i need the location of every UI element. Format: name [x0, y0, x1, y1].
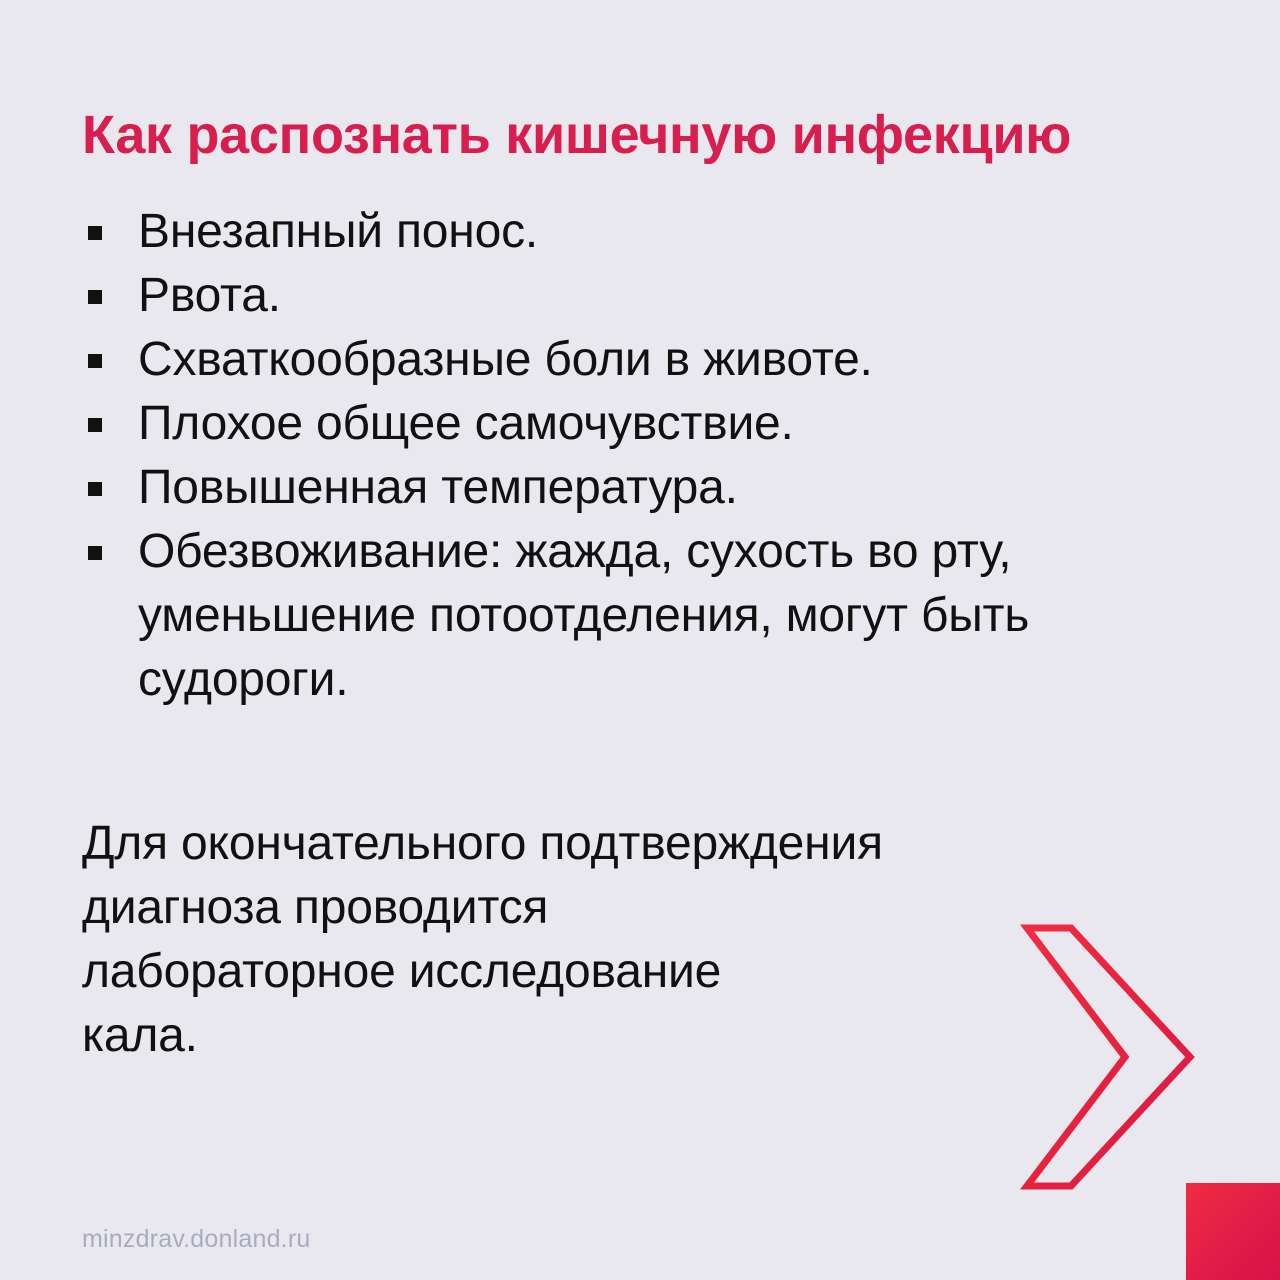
conclusion-line: диагноза проводится	[82, 876, 1172, 940]
list-item-label: Повышенная температура.	[138, 456, 1192, 520]
footer-url: minzdrav.donland.ru	[82, 1224, 310, 1254]
conclusion-line: Для окончательного подтверждения	[82, 812, 1172, 876]
square-bullet-icon	[88, 482, 102, 496]
list-item-label: Схваткообразные боли в животе.	[138, 328, 1192, 392]
list-item-label: Внезапный понос.	[138, 200, 1192, 264]
list-item: Повышенная температура.	[82, 456, 1192, 520]
square-bullet-icon	[88, 354, 102, 368]
square-bullet-icon	[88, 418, 102, 432]
list-item-label: Плохое общее самочувствие.	[138, 392, 1192, 456]
square-bullet-icon	[88, 290, 102, 304]
list-item: Рвота.	[82, 264, 1192, 328]
list-item: Плохое общее самочувствие.	[82, 392, 1192, 456]
list-item-label: Рвота.	[138, 264, 1192, 328]
slide-canvas: Как распознать кишечную инфекцию Внезапн…	[0, 0, 1280, 1280]
square-bullet-icon	[88, 226, 102, 240]
conclusion-line: лабораторное исследование	[82, 940, 1172, 1004]
square-bullet-icon	[88, 546, 102, 560]
list-item: Внезапный понос.	[82, 200, 1192, 264]
list-item: Обезвоживание: жажда, сухость во рту, ум…	[82, 520, 1192, 712]
list-item-label: Обезвоживание: жажда, сухость во рту, ум…	[138, 520, 1192, 712]
conclusion-line: кала.	[82, 1004, 1172, 1068]
conclusion-paragraph: Для окончательного подтверждения диагноз…	[82, 812, 1172, 1068]
list-item: Схваткообразные боли в животе.	[82, 328, 1192, 392]
corner-accent-block	[1186, 1183, 1280, 1280]
page-title: Как распознать кишечную инфекцию	[82, 104, 1202, 166]
symptom-list: Внезапный понос. Рвота. Схваткообразные …	[82, 200, 1192, 712]
